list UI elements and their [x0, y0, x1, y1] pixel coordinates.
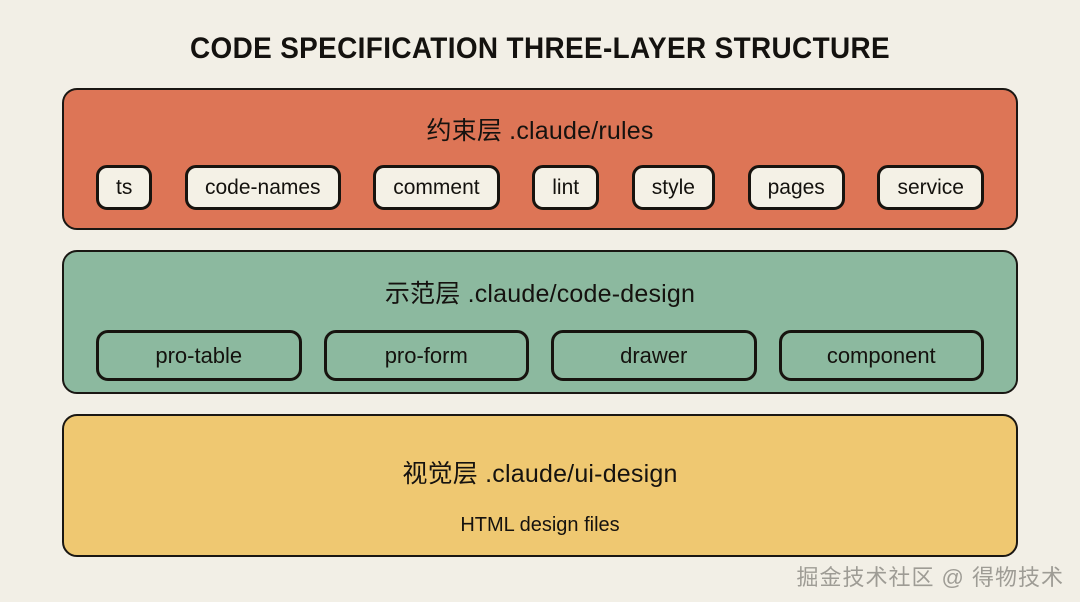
tag-pro-table[interactable]: pro-table: [96, 330, 302, 381]
tag-code-names[interactable]: code-names: [185, 165, 341, 210]
layer-panel-constraint: 约束层 .claude/rules ts code-names comment …: [62, 88, 1018, 230]
layer-heading-constraint: 约束层 .claude/rules: [426, 111, 653, 147]
tag-drawer[interactable]: drawer: [551, 330, 757, 381]
watermark: 掘金技术社区 @ 得物技术: [796, 560, 1064, 592]
layer-panel-visual: 视觉层 .claude/ui-design HTML design files: [62, 414, 1018, 557]
page-title: CODE SPECIFICATION THREE-LAYER STRUCTURE: [38, 32, 1042, 66]
layer-subheading-visual: HTML design files: [460, 514, 619, 537]
tag-pages[interactable]: pages: [748, 165, 845, 210]
tag-service[interactable]: service: [877, 165, 984, 210]
tag-row-constraint: ts code-names comment lint style pages s…: [64, 165, 1016, 210]
tag-component[interactable]: component: [779, 330, 985, 381]
tag-ts[interactable]: ts: [96, 165, 152, 210]
tag-style[interactable]: style: [632, 165, 715, 210]
layer-panel-demo: 示范层 .claude/code-design pro-table pro-fo…: [62, 250, 1018, 394]
tag-comment[interactable]: comment: [373, 165, 499, 210]
diagram-canvas: CODE SPECIFICATION THREE-LAYER STRUCTURE…: [0, 0, 1080, 602]
tag-row-demo: pro-table pro-form drawer component: [64, 330, 1016, 381]
tag-lint[interactable]: lint: [532, 165, 599, 210]
layer-heading-visual: 视觉层 .claude/ui-design: [402, 454, 677, 490]
tag-pro-form[interactable]: pro-form: [324, 330, 530, 381]
layer-heading-demo: 示范层 .claude/code-design: [385, 274, 695, 310]
